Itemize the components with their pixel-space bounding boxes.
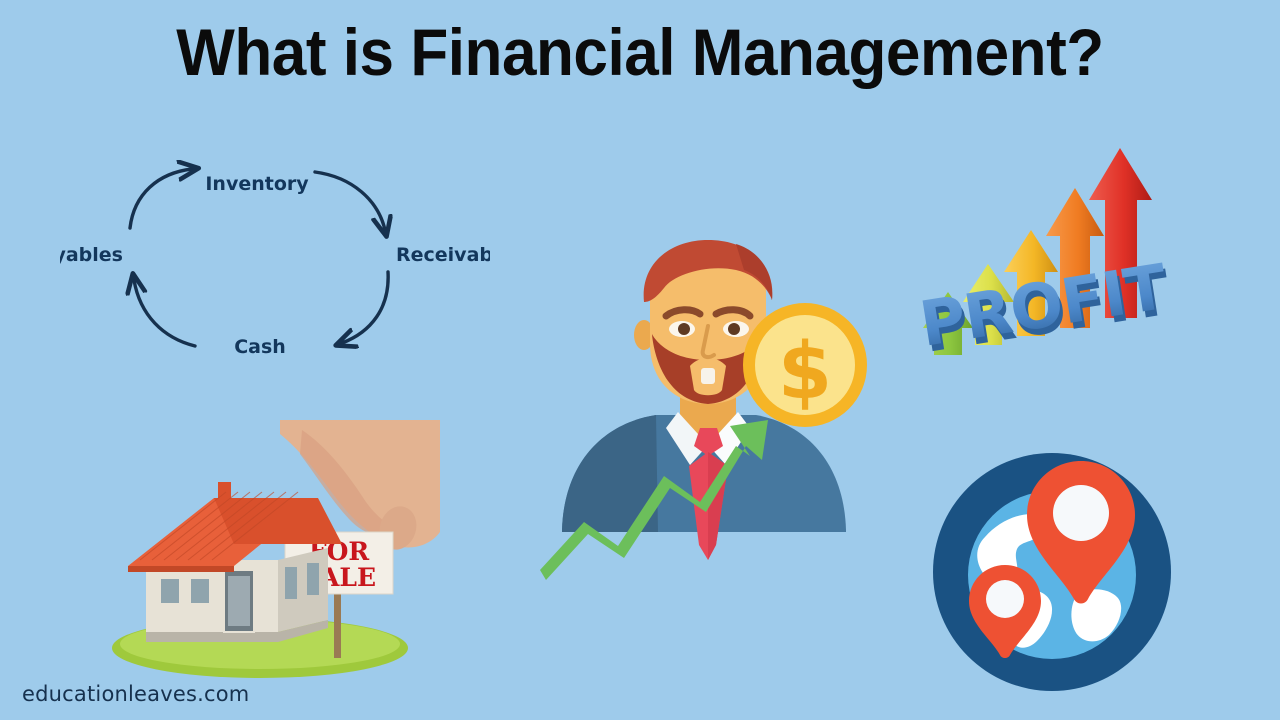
site-watermark: educationleaves.com	[22, 682, 249, 706]
cycle-node-cash: Cash	[234, 336, 286, 358]
businessman-illustration: $	[540, 240, 880, 585]
house-for-sale-graphic: FOR SALE	[110, 420, 440, 685]
cycle-arrow-receivables-to-cash	[342, 272, 388, 343]
cycle-node-inventory: Inventory	[205, 173, 309, 195]
dollar-coin: $	[743, 303, 867, 427]
slide-canvas: What is Financial Management? Inventory …	[0, 0, 1280, 720]
coin-dollar-symbol: $	[778, 327, 832, 417]
cycle-arrow-inventory-to-receivables	[315, 172, 385, 230]
cycle-arrow-payables-to-inventory	[130, 169, 192, 228]
globe-pins-graphic	[925, 445, 1180, 700]
page-title: What is Financial Management?	[38, 16, 1241, 89]
cash-cycle-diagram: Inventory Receivables Cash Payables	[60, 150, 490, 380]
cycle-arrow-cash-to-payables	[134, 280, 195, 346]
cycle-node-receivables: Receivables	[396, 244, 490, 266]
cycle-node-payables: Payables	[60, 244, 123, 266]
profit-growth-graphic: PROFIT PROFIT	[915, 140, 1170, 395]
